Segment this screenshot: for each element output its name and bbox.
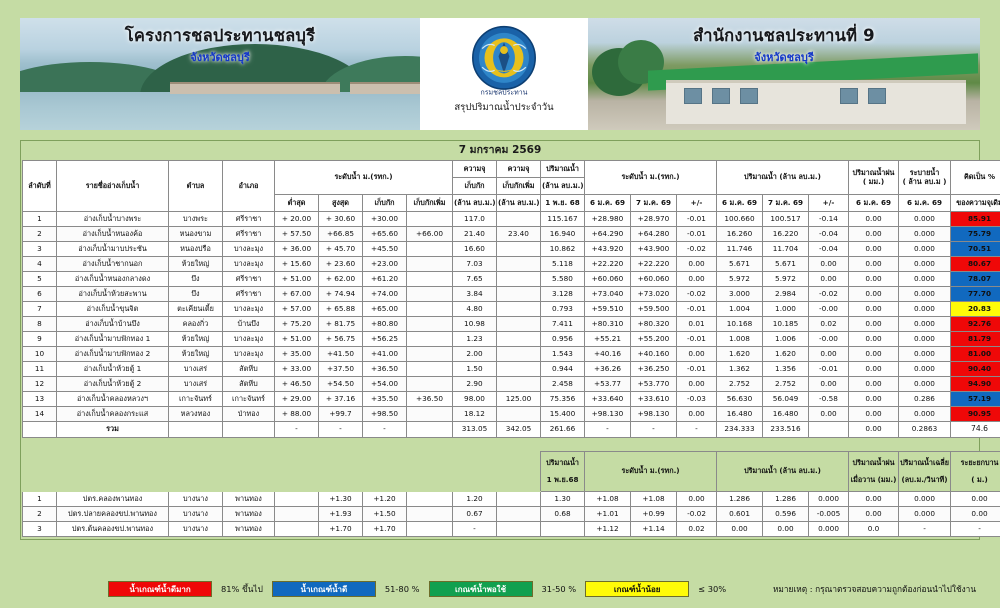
cell-storage: +54.00	[363, 377, 407, 392]
cell-gate-rain-over: 0.00	[849, 507, 899, 522]
cell-total-dist	[223, 422, 275, 438]
cell-gate-rain-over: 0.0	[849, 522, 899, 537]
th-gate-empty-left	[23, 452, 541, 492]
cell-reservoir-name: อ่างเก็บน้ำชากนอก	[57, 257, 169, 272]
cell-no: 13	[23, 392, 57, 407]
cell-gate-wl-delta: -0.02	[677, 507, 717, 522]
cell-wl-prev: +80.310	[585, 317, 631, 332]
window-shape	[740, 88, 758, 104]
cell-wl-prev: +36.26	[585, 362, 631, 377]
cell-total-lowest: -	[275, 422, 319, 438]
gate-table-header-row: ปริมาณน้ำ 1 พ.ย.68 ระดับน้ำ ม.(รทก.) ปริ…	[23, 452, 1000, 492]
cell-vol-prev: 1.620	[717, 347, 763, 362]
cell-vol-delta: 0.00	[809, 272, 849, 287]
window-shape	[868, 88, 886, 104]
cell-vol-curr: 100.517	[763, 212, 809, 227]
th-rain-date: 6 ม.ค. 69	[849, 195, 899, 212]
cell-gate-blank	[275, 507, 319, 522]
cell-capacity-extra: 23.40	[497, 227, 541, 242]
building-facade	[666, 80, 966, 124]
cell-total-rain: 0.00	[849, 422, 899, 438]
cell-storage: +65.00	[363, 302, 407, 317]
cell-capacity: 1.23	[453, 332, 497, 347]
cell-storage-extra	[407, 317, 453, 332]
cell-wl-curr: +80.320	[631, 317, 677, 332]
cell-total-wl-delta: -	[677, 422, 717, 438]
cell-district: ศรีราชา	[223, 227, 275, 242]
cell-no: 2	[23, 227, 57, 242]
cell-gate-wl-prev: +1.01	[585, 507, 631, 522]
cell-subdistrict: หนองปรือ	[169, 242, 223, 257]
th-pct-old: คิดเป็น %	[951, 161, 1000, 195]
cell-storage: +36.50	[363, 362, 407, 377]
cell-gate-district: พานทอง	[223, 507, 275, 522]
th-wl-date-curr: 7 ม.ค. 69	[631, 195, 677, 212]
legend-swatch-yellow: เกณฑ์น้ำน้อย	[585, 581, 689, 597]
cell-no: 5	[23, 272, 57, 287]
cell-total-drain: 0.2863	[899, 422, 951, 438]
th-water-level-group-2: ระดับน้ำ ม.(รทก.)	[585, 161, 717, 195]
cell-reservoir-name: อ่างเก็บน้ำห้วยตู้ 2	[57, 377, 169, 392]
cell-gate-capacity: 1.20	[453, 492, 497, 507]
cell-drain: 0.286	[899, 392, 951, 407]
cell-gate-capacity: 0.67	[453, 507, 497, 522]
cell-storage: +23.00	[363, 257, 407, 272]
cell-gate-name: ปตร.คลองพานทอง	[57, 492, 169, 507]
cell-highest: +99.7	[319, 407, 363, 422]
table-total-row: รวม---313.05342.05261.66---234.333233.51…	[23, 422, 1000, 438]
th-district: อำเภอ	[223, 161, 275, 212]
cell-subdistrict: บางพระ	[169, 212, 223, 227]
cell-gate-lift: -	[951, 522, 1000, 537]
cell-gate-wl-curr: +1.14	[631, 522, 677, 537]
table-row: 11อ่างเก็บน้ำห้วยตู้ 1บางเสร่สัตหีบ+ 33.…	[23, 362, 1000, 377]
cell-capacity-extra	[497, 317, 541, 332]
cell-gate-no: 2	[23, 507, 57, 522]
cell-gate-rain-over: 0.00	[849, 492, 899, 507]
cell-highest: +41.50	[319, 347, 363, 362]
cell-gate-lift: 0.00	[951, 507, 1000, 522]
cell-storage-extra	[407, 242, 453, 257]
th-subdistrict: ตำบล	[169, 161, 223, 212]
cell-gate-volume-nov: 0.68	[541, 507, 585, 522]
cell-storage-extra	[407, 332, 453, 347]
pier-structure	[170, 82, 340, 94]
cell-gate-wl-delta: 0.00	[677, 492, 717, 507]
cell-gate-vol-curr: 0.596	[763, 507, 809, 522]
legend-items: น้ำเกณฑ์น้ำดีมาก81% ขึ้นไปน้ำเกณฑ์น้ำดี5…	[108, 581, 735, 597]
cell-vol-prev: 1.008	[717, 332, 763, 347]
cell-gate-highest: +1.70	[363, 522, 407, 537]
cell-total-vol-delta	[809, 422, 849, 438]
cell-total-storage: -	[363, 422, 407, 438]
cell-gate-blank	[275, 492, 319, 507]
cell-highest: + 74.94	[319, 287, 363, 302]
cell-vol-prev: 10.168	[717, 317, 763, 332]
cell-storage-extra	[407, 257, 453, 272]
cell-lowest: + 75.20	[275, 317, 319, 332]
cell-pct-old: 92.76	[951, 317, 1000, 332]
cell-district: สัตหีบ	[223, 377, 275, 392]
cell-total-pct-old: 74.6	[951, 422, 1000, 438]
cell-district: เกาะจันทร์	[223, 392, 275, 407]
cell-vol-delta: 0.02	[809, 317, 849, 332]
table-header-row-1: ลำดับที่ รายชื่ออ่างเก็บน้ำ ตำบล อำเภอ ร…	[23, 161, 1000, 178]
cell-vol-delta: 0.00	[809, 347, 849, 362]
window-shape	[840, 88, 858, 104]
cell-lowest: + 51.00	[275, 272, 319, 287]
cell-no: 10	[23, 347, 57, 362]
th-water-level-group: ระดับน้ำ ม.(รทก.)	[275, 161, 453, 195]
report-page: โครงการชลประทานชลบุรี จังหวัดชลบุรี กรมช…	[0, 0, 1000, 608]
cell-vol-delta: -0.04	[809, 242, 849, 257]
reservoir-table: ลำดับที่ รายชื่ออ่างเก็บน้ำ ตำบล อำเภอ ร…	[22, 160, 1000, 438]
cell-storage: +61.20	[363, 272, 407, 287]
th-wl-delta: +/-	[677, 195, 717, 212]
cell-vol-delta: -0.01	[809, 362, 849, 377]
cell-lowest: + 88.00	[275, 407, 319, 422]
window-shape	[684, 88, 702, 104]
cell-subdistrict: ห้วยใหญ่	[169, 257, 223, 272]
cell-vol-prev: 100.660	[717, 212, 763, 227]
cell-gate-avg-flow: 0.000	[899, 507, 951, 522]
cell-pct-old: 85.91	[951, 212, 1000, 227]
cell-lowest: + 57.50	[275, 227, 319, 242]
table-row: 7อ่างเก็บน้ำขุนจิตตะเคียนเตี้ยบางละมุง+ …	[23, 302, 1000, 317]
cell-wl-delta: 0.01	[677, 317, 717, 332]
cell-rain: 0.00	[849, 317, 899, 332]
th-reservoir-name: รายชื่ออ่างเก็บน้ำ	[57, 161, 169, 212]
cell-vol-curr: 10.185	[763, 317, 809, 332]
cell-volume-nov: 3.128	[541, 287, 585, 302]
cell-subdistrict: หลวงทอง	[169, 407, 223, 422]
cell-vol-delta: -0.00	[809, 332, 849, 347]
cell-wl-delta: -0.02	[677, 242, 717, 257]
th-gate-volume-nov: ปริมาณน้ำ 1 พ.ย.68	[541, 452, 585, 492]
cell-wl-prev: +55.21	[585, 332, 631, 347]
cell-pct-old: 57.19	[951, 392, 1000, 407]
cell-gate-wl-delta: 0.02	[677, 522, 717, 537]
cell-district: ศรีราชา	[223, 272, 275, 287]
cell-capacity: 10.98	[453, 317, 497, 332]
th-pct-old-sub: ของความจุเดิม	[951, 195, 1000, 212]
cell-capacity-extra	[497, 302, 541, 317]
cell-wl-curr: +22.220	[631, 257, 677, 272]
cell-reservoir-name: อ่างเก็บน้ำมาบประชัน	[57, 242, 169, 257]
cell-vol-curr: 5.972	[763, 272, 809, 287]
cell-lowest: + 51.00	[275, 332, 319, 347]
svg-text:กรมชลประทาน: กรมชลประทาน	[481, 88, 528, 97]
cell-pct-old: 90.95	[951, 407, 1000, 422]
cell-capacity-extra	[497, 257, 541, 272]
cell-vol-prev: 16.260	[717, 227, 763, 242]
cell-storage: +65.60	[363, 227, 407, 242]
cell-reservoir-name: อ่างเก็บน้ำหนองค้อ	[57, 227, 169, 242]
cell-capacity: 2.90	[453, 377, 497, 392]
cell-wl-prev: +53.77	[585, 377, 631, 392]
cell-capacity: 4.80	[453, 302, 497, 317]
th-capacity-extra: ความจุ	[497, 161, 541, 178]
cell-vol-prev: 56.630	[717, 392, 763, 407]
cell-volume-nov: 7.411	[541, 317, 585, 332]
cell-lowest: + 35.00	[275, 347, 319, 362]
th-lowest: ต่ำสุด	[275, 195, 319, 212]
cell-vol-prev: 5.671	[717, 257, 763, 272]
cell-no: 3	[23, 242, 57, 257]
cell-total-vol-curr: 233.516	[763, 422, 809, 438]
cell-gate-capacity-extra	[497, 492, 541, 507]
th-volume-group: ปริมาณน้ำ (ล้าน ลบ.ม.)	[717, 161, 849, 195]
cell-district: บางละมุง	[223, 332, 275, 347]
lake-water	[20, 92, 420, 130]
table-gap	[21, 440, 979, 451]
cell-storage-extra	[407, 212, 453, 227]
cell-gate-no: 1	[23, 492, 57, 507]
cell-gate-vol-delta: 0.000	[809, 522, 849, 537]
cell-highest: + 23.60	[319, 257, 363, 272]
cell-gate-volume-nov	[541, 522, 585, 537]
cell-capacity-extra	[497, 407, 541, 422]
cell-total-highest: -	[319, 422, 363, 438]
th-gate-volume-nov-label: ปริมาณน้ำ	[546, 458, 579, 467]
table-row: 3อ่างเก็บน้ำมาบประชันหนองปรือบางละมุง+ 3…	[23, 242, 1000, 257]
legend-swatch-blue: น้ำเกณฑ์น้ำดี	[272, 581, 376, 597]
cell-drain: 0.000	[899, 377, 951, 392]
cell-wl-curr: +55.200	[631, 332, 677, 347]
cell-highest: + 62.00	[319, 272, 363, 287]
cell-total-storage-extra	[407, 422, 453, 438]
cell-volume-nov: 2.458	[541, 377, 585, 392]
table-row: 12อ่างเก็บน้ำห้วยตู้ 2บางเสร่สัตหีบ+ 46.…	[23, 377, 1000, 392]
cell-capacity-extra	[497, 332, 541, 347]
cell-vol-curr: 56.049	[763, 392, 809, 407]
cell-wl-delta: -0.01	[677, 227, 717, 242]
cell-rain: 0.00	[849, 242, 899, 257]
report-date: 7 มกราคม 2569	[21, 141, 979, 160]
cell-volume-nov: 10.862	[541, 242, 585, 257]
cell-vol-prev: 3.000	[717, 287, 763, 302]
cell-vol-curr: 1.356	[763, 362, 809, 377]
cell-gate-subdistrict: บางนาง	[169, 522, 223, 537]
cell-reservoir-name: อ่างเก็บน้ำหนองกลางดง	[57, 272, 169, 287]
cell-lowest: + 15.60	[275, 257, 319, 272]
cell-district: ศรีราชา	[223, 287, 275, 302]
cell-storage-extra: +66.00	[407, 227, 453, 242]
cell-wl-delta: 0.00	[677, 347, 717, 362]
cell-reservoir-name: อ่างเก็บน้ำคลองหลวงฯ	[57, 392, 169, 407]
cell-subdistrict: ตะเคียนเตี้ย	[169, 302, 223, 317]
cell-vol-prev: 5.972	[717, 272, 763, 287]
cell-wl-prev: +33.640	[585, 392, 631, 407]
table-row: 10อ่างเก็บน้ำมาบฟักทอง 2ห้วยใหญ่บางละมุง…	[23, 347, 1000, 362]
th-storage: เก็บกัก	[363, 195, 407, 212]
cell-drain: 0.000	[899, 272, 951, 287]
cell-total-label: รวม	[57, 422, 169, 438]
cell-capacity-extra	[497, 287, 541, 302]
cell-no: 7	[23, 302, 57, 317]
table-row: 4อ่างเก็บน้ำชากนอกห้วยใหญ่บางละมุง+ 15.6…	[23, 257, 1000, 272]
cell-gate-capacity: -	[453, 522, 497, 537]
cell-gate-district: พานทอง	[223, 492, 275, 507]
table-row: 1อ่างเก็บน้ำบางพระบางพระศรีราชา+ 20.00+ …	[23, 212, 1000, 227]
th-volume: ปริมาณน้ำ	[541, 161, 585, 178]
cell-gate-highest: +1.50	[363, 507, 407, 522]
cell-rain: 0.00	[849, 392, 899, 407]
cell-total-wl-curr: -	[631, 422, 677, 438]
cell-drain: 0.000	[899, 302, 951, 317]
cell-vol-prev: 1.004	[717, 302, 763, 317]
cell-drain: 0.000	[899, 212, 951, 227]
cell-storage-extra	[407, 302, 453, 317]
cell-pct-old: 81.79	[951, 332, 1000, 347]
cell-volume-nov: 5.118	[541, 257, 585, 272]
th-unit-mcm-1: (ล้าน ลบ.ม.)	[453, 195, 497, 212]
legend-footnote: หมายเหตุ : กรุณาตรวจสอบความถูกต้องก่อนนำ…	[773, 582, 980, 596]
th-gate-rain-over: ปริมาณน้ำฝน เมื่อวาน (มม.)	[849, 452, 899, 492]
cell-storage: +30.00	[363, 212, 407, 227]
cell-reservoir-name: อ่างเก็บน้ำขุนจิต	[57, 302, 169, 317]
th-gate-avg-flow: ปริมาณน้ำเฉลี่ย (ลบ.ม./วินาที)	[899, 452, 951, 492]
banner-image-left: โครงการชลประทานชลบุรี จังหวัดชลบุรี	[20, 18, 420, 130]
cell-wl-prev: +60.060	[585, 272, 631, 287]
th-gate-lift-unit: ( ม.)	[971, 475, 988, 484]
th-storage-extra: เก็บกักเพิ่ม	[407, 195, 453, 212]
cell-reservoir-name: อ่างเก็บน้ำบางพระ	[57, 212, 169, 227]
cell-capacity: 7.03	[453, 257, 497, 272]
gate-table-row: 3ปตร.ต้นคลองขป.พานทองบางนางพานทอง+1.70+1…	[23, 522, 1000, 537]
th-gate-vol-group: ปริมาณน้ำ (ล้าน ลบ.ม.)	[717, 452, 849, 492]
cell-storage-extra: +36.50	[407, 392, 453, 407]
cell-reservoir-name: อ่างเก็บน้ำห้วยตู้ 1	[57, 362, 169, 377]
cell-lowest: + 67.00	[275, 287, 319, 302]
table-row: 13อ่างเก็บน้ำคลองหลวงฯเกาะจันทร์เกาะจันท…	[23, 392, 1000, 407]
th-vol-delta: +/-	[809, 195, 849, 212]
th-wl-date-prev: 6 ม.ค. 69	[585, 195, 631, 212]
cell-district: ป่าทอง	[223, 407, 275, 422]
page-banner: โครงการชลประทานชลบุรี จังหวัดชลบุรี กรมช…	[20, 18, 980, 130]
th-capacity-storage-2: เก็บกัก	[453, 178, 497, 195]
logo-caption: สรุปปริมาณน้ำประจำวัน	[454, 100, 553, 115]
cell-rain: 0.00	[849, 347, 899, 362]
cell-storage: +80.80	[363, 317, 407, 332]
cell-reservoir-name: อ่างเก็บน้ำห้วยสะพาน	[57, 287, 169, 302]
th-gate-lift-label: ระยะยกบาน	[961, 458, 999, 467]
legend-swatch-red: น้ำเกณฑ์น้ำดีมาก	[108, 581, 212, 597]
cell-pct-old: 81.00	[951, 347, 1000, 362]
cell-storage: +41.00	[363, 347, 407, 362]
cell-wl-curr: +40.160	[631, 347, 677, 362]
cell-reservoir-name: อ่างเก็บน้ำมาบฟักทอง 1	[57, 332, 169, 347]
cell-lowest: + 33.00	[275, 362, 319, 377]
cell-rain: 0.00	[849, 407, 899, 422]
cell-wl-prev: +28.980	[585, 212, 631, 227]
cell-gate-lowest: +1.93	[319, 507, 363, 522]
cell-subdistrict: บางเสร่	[169, 362, 223, 377]
th-gate-rain-over-label: ปริมาณน้ำฝน	[853, 458, 895, 467]
cell-wl-prev: +43.920	[585, 242, 631, 257]
cell-drain: 0.000	[899, 257, 951, 272]
cell-wl-delta: 0.00	[677, 272, 717, 287]
cell-wl-curr: +60.060	[631, 272, 677, 287]
cell-highest: + 81.75	[319, 317, 363, 332]
cell-drain: 0.000	[899, 287, 951, 302]
banner-image-right: สำนักงานชลประทานที่ 9 จังหวัดชลบุรี	[588, 18, 980, 130]
legend-swatch-green: เกณฑ์น้ำพอใช้	[429, 581, 533, 597]
cell-wl-delta: 0.00	[677, 407, 717, 422]
cell-lowest: + 20.00	[275, 212, 319, 227]
cell-subdistrict: ห้วยใหญ่	[169, 332, 223, 347]
th-gate-rain-over-unit: เมื่อวาน (มม.)	[851, 475, 897, 484]
cell-pct-old: 90.40	[951, 362, 1000, 377]
cell-rain: 0.00	[849, 272, 899, 287]
cell-wl-delta: -0.01	[677, 212, 717, 227]
banner-left-title: โครงการชลประทานชลบุรี	[20, 26, 420, 47]
cell-subdistrict: บึง	[169, 287, 223, 302]
cell-gate-storage	[407, 522, 453, 537]
cell-storage: +74.00	[363, 287, 407, 302]
cell-vol-delta: -0.02	[809, 287, 849, 302]
cell-vol-delta: 0.00	[809, 377, 849, 392]
cell-capacity: 117.0	[453, 212, 497, 227]
table-row: 14อ่างเก็บน้ำคลองกระแสหลวงทองป่าทอง+ 88.…	[23, 407, 1000, 422]
cell-gate-name: ปตร.ต้นคลองขป.พานทอง	[57, 522, 169, 537]
cell-vol-prev: 1.362	[717, 362, 763, 377]
table-row: 2อ่างเก็บน้ำหนองค้อหนองขามศรีราชา+ 57.50…	[23, 227, 1000, 242]
cell-gate-vol-delta: 0.000	[809, 492, 849, 507]
cell-vol-curr: 2.984	[763, 287, 809, 302]
cell-wl-delta: -0.03	[677, 392, 717, 407]
cell-storage: +45.50	[363, 242, 407, 257]
th-gate-avg-flow-label: ปริมาณน้ำเฉลี่ย	[900, 458, 949, 467]
cell-vol-curr: 1.000	[763, 302, 809, 317]
cell-total-capacity: 313.05	[453, 422, 497, 438]
cell-drain: 0.000	[899, 347, 951, 362]
th-no: ลำดับที่	[23, 161, 57, 212]
th-capacity-extra-2: เก็บกักเพิ่ม	[497, 178, 541, 195]
th-gate-avg-flow-unit: (ลบ.ม./วินาที)	[901, 475, 947, 484]
report-table-frame: 7 มกราคม 2569 ลำดับที่ รายชื่ออ่างเก็บน้…	[20, 140, 980, 540]
cell-wl-delta: -0.01	[677, 362, 717, 377]
cell-subdistrict: ห้วยใหญ่	[169, 347, 223, 362]
cell-no: 1	[23, 212, 57, 227]
cell-rain: 0.00	[849, 377, 899, 392]
cell-volume-nov: 16.940	[541, 227, 585, 242]
cell-lowest: + 46.50	[275, 377, 319, 392]
cell-rain: 0.00	[849, 287, 899, 302]
pier-structure	[350, 82, 420, 94]
cell-gate-vol-prev: 0.00	[717, 522, 763, 537]
cell-vol-prev: 16.480	[717, 407, 763, 422]
cell-storage-extra	[407, 287, 453, 302]
cell-capacity-extra	[497, 362, 541, 377]
cell-wl-curr: +73.020	[631, 287, 677, 302]
cell-gate-subdistrict: บางนาง	[169, 492, 223, 507]
cell-capacity: 21.40	[453, 227, 497, 242]
cell-district: สัตหีบ	[223, 362, 275, 377]
cell-pct-old: 77.70	[951, 287, 1000, 302]
legend-range-blue: 51-80 %	[376, 584, 429, 594]
cell-gate-capacity-extra	[497, 522, 541, 537]
cell-drain: 0.000	[899, 332, 951, 347]
cell-gate-vol-delta: -0.005	[809, 507, 849, 522]
gate-table-row: 1ปตร.คลองพานทองบางนางพานทอง+1.30+1.201.2…	[23, 492, 1000, 507]
cell-gate-subdistrict: บางนาง	[169, 507, 223, 522]
cell-volume-nov: 0.944	[541, 362, 585, 377]
cell-gate-avg-flow: -	[899, 522, 951, 537]
cell-volume-nov: 0.793	[541, 302, 585, 317]
cell-wl-delta: -0.01	[677, 302, 717, 317]
th-highest: สูงสุด	[319, 195, 363, 212]
